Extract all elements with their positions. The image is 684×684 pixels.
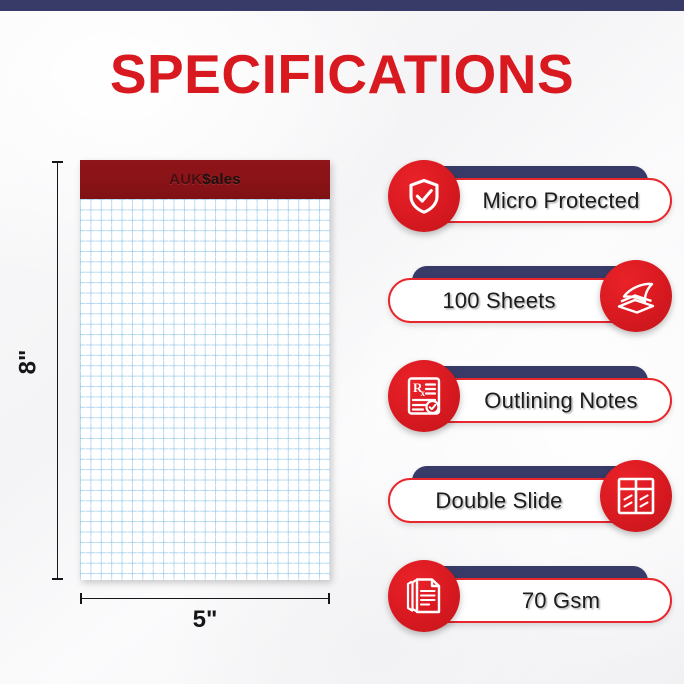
feature-label: Double Slide [435,488,562,514]
feature-label: Outlining Notes [484,388,637,414]
brand-logo: AUK$ales [169,171,241,188]
feature-list: Micro Protected 100 Sheets [388,160,672,634]
notepad-header-banner: AUK$ales [80,160,330,199]
brand-logo-suffix: $ales [202,171,241,188]
height-dimension-label: 8" [14,350,42,375]
top-navy-bar [0,0,684,11]
notepad-illustration: AUK$ales [80,160,330,580]
feature-item-100-sheets[interactable]: 100 Sheets [388,260,672,334]
dimension-cap-left [80,593,82,604]
stacked-sheets-icon [600,260,672,332]
feature-label: 100 Sheets [442,288,555,314]
height-dimension-line [57,161,58,580]
rx-note-icon: R x [388,360,460,432]
feature-item-double-slide[interactable]: Double Slide [388,460,672,534]
notepad-grid-paper [80,199,330,580]
width-dimension-line [80,598,330,599]
dimension-cap-top [52,161,63,163]
dimension-cap-bottom [52,578,63,580]
page-title: SPECIFICATIONS [0,44,684,104]
feature-item-outlining-notes[interactable]: Outlining Notes R x [388,360,672,434]
feature-label: Micro Protected [482,188,639,214]
specifications-infographic: SPECIFICATIONS AUK$ales 8" 5" Micro Prot… [0,0,684,684]
shield-check-icon [388,160,460,232]
document-stack-icon [388,560,460,632]
width-dimension-label: 5" [80,606,330,634]
dimension-cap-right [328,593,330,604]
svg-text:x: x [421,388,426,398]
double-pane-window-icon [600,460,672,532]
feature-item-70-gsm[interactable]: 70 Gsm [388,560,672,634]
feature-item-micro-protected[interactable]: Micro Protected [388,160,672,234]
feature-label: 70 Gsm [522,588,600,614]
brand-logo-prefix: AUK [169,171,202,188]
